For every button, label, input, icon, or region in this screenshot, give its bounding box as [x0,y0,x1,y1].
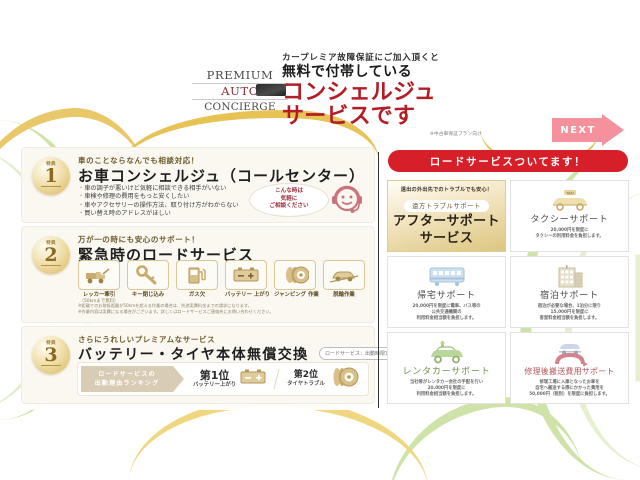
support-card-after-support[interactable]: 遠出の外出先でのトラブルでも安心！ 遠方トラブルサポート アフターサポート サー… [388,181,505,251]
next-button-label: NEXT [560,125,595,136]
advertisement-page: PREMIUM AUTO CONCIERGE カープレミア故障保証にご加入頂くと… [0,0,640,480]
logo-line-premium: PREMIUM [192,68,288,84]
road-service-label: 脱輪作業 [323,292,365,299]
card-title: レンタカーサポート [392,366,501,378]
fuel-pump-icon [176,260,218,290]
battery-icon [240,369,266,389]
ranking-entry-2: 第2位 タイヤトラブル [287,366,359,392]
train-icon [392,264,501,290]
road-service-label: キー閉じ込み [127,292,169,299]
card-description: 20,000円を限度に タクシーの利用料金を負担します。 [515,228,624,240]
benefit-card-3: 特典 3 さらにうれしいプレミアムなサービス バッテリー・タイヤ本体無償交換 ロ… [22,327,374,403]
road-service-label: バッテリー 上がり [225,292,267,299]
card-description: 20,000円を限度に電車、バス等の 公共交通機関の 利用料金相当額を負担します… [392,304,501,321]
bullet-item: 車やアクセサリーの操作方法、取り付け方がわからない [78,202,239,210]
road-service-notes: ※距離でのお取扱距離が50kmを超える作業の場合は、別途実費料金までの請求になり… [78,303,368,314]
header-subline: 無料で付帯している [282,64,532,81]
stuck-car-icon [323,260,365,290]
card-title: 宿泊サポート [515,290,624,302]
card-description: 当社等がレンタカー会社の手配を行い 20,000円を限度に 利用料金相当額を負担… [392,380,501,397]
road-service-panel: ロードサービスついてます！ 遠出の外出先でのトラブルでも安心！ 遠方トラブルサポ… [388,150,628,403]
support-card-hotel[interactable]: 宿泊サポート 宿泊が必要な場合、1泊分に限り 15,000円を限度に 客室料金相… [511,257,628,327]
support-card-transport[interactable]: 修理後搬送費用サポート 修理工場に入庫となったお車を 自宅へ搬送する際にかかった… [511,333,628,403]
header-title-line1: コンシェルジュ [282,81,532,105]
ranking-label-1: バッテリー上がり [193,382,236,389]
road-service-label: ジャンピング 作業 [274,292,316,299]
ranking-strip: ロードサービスの 出動理由ランキング 第1位 バッテリー上がり [78,363,368,395]
logo-line-concierge: CONCIERGE [192,100,288,115]
road-service-label: ガス欠 [176,292,218,299]
ranking-position-2: 第2位 タイヤトラブル [287,370,325,388]
road-service-item: レッカー牽引 （50kmまで無料） [78,260,120,305]
bullet-item: 車検や修理の費用をもっと安くしたい [78,193,239,201]
card-description: 宿泊が必要な場合、1泊分に限り 15,000円を限度に 客室料金相当額を負担しま… [515,304,624,321]
support-card-home[interactable]: 帰宅サポート 20,000円を限度に電車、バス等の 公共交通機関の 利用料金相当… [388,257,505,327]
medal-badge-1: 特典 1 [32,157,70,195]
note-line: ※作業内容は実費になる場合がございます。詳しくはロードサービスご連絡先にお問い合… [78,309,368,315]
road-service-banner-label: ロードサービスついてます！ [430,154,586,169]
key-icon [127,260,169,290]
medal-number-1: 1 [41,167,60,187]
benefit-title-1: お車コンシェルジュ（コールセンター） [78,165,365,186]
hotel-icon [515,264,624,290]
road-service-banner: ロードサービスついてます！ [388,150,628,172]
ranking-entry-1: 第1位 バッテリー上がり [193,369,266,389]
ranking-tag: ロードサービスの 出動理由ランキング [81,366,173,392]
header-title-line2: サービスです [282,105,532,129]
bullet-item: 買い替え時のアドレスがほしい [78,210,239,218]
ranking-rank-1: 第1位 [193,370,236,382]
medal-number-3: 3 [41,346,60,366]
road-service-icon-row: レッカー牽引 （50kmまで無料） キー閉じ込み [78,260,366,305]
road-service-item: 脱輪作業 [323,260,365,305]
tow-truck-icon [78,260,120,290]
header-headline: カープレミア故障保証にご加入頂くと 無料で付帯している コンシェルジュ サービス… [282,52,532,137]
consult-callout: こんな時は 気軽に ご相談ください [250,184,370,218]
speech-bubble: こんな時は 気軽に ご相談ください [250,184,328,216]
next-arrow-body: NEXT [552,118,604,142]
card-title-line1: アフターサポート [392,214,501,229]
tire-icon [274,260,316,290]
callout-line-3: ご相談ください [250,203,328,211]
card-description: 修理工場に入庫となったお車を 自宅へ搬送する際にかかった費用を 50,000円（… [515,380,624,397]
support-card-rental-car[interactable]: レンタカーサポート 当社等がレンタカー会社の手配を行い 20,000円を限度に … [388,333,505,403]
benefits-panel: 特典 1 車のことならなんでも相談対応！ お車コンシェルジュ（コールセンター） … [22,148,374,410]
benefit-card-1: 特典 1 車のことならなんでも相談対応！ お車コンシェルジュ（コールセンター） … [22,148,374,222]
road-service-item: キー閉じ込み [127,260,169,305]
next-arrow-head-icon [602,114,624,146]
svg-text:TAXI: TAXI [565,191,573,195]
ranking-position-1: 第1位 バッテリー上がり [193,370,236,389]
benefit-badge-3: ロードサービス：出動時限定 [319,347,396,360]
ranking-divider [274,369,280,389]
transport-car-icon [515,340,624,366]
support-card-grid: 遠出の外出先でのトラブルでも安心！ 遠方トラブルサポート アフターサポート サー… [388,181,628,403]
benefit-title-3: バッテリー・タイヤ本体無償交換 [78,344,309,364]
ranking-tag-line2: 出動理由ランキング [95,379,160,388]
road-service-item: ジャンピング 作業 [274,260,316,305]
benefit-bullets-1: 車の調子が悪いけど気軽に相談できる相手がいない 車検や修理の費用をもっと安くした… [78,185,239,219]
battery-icon [225,260,267,290]
header-kicker: カープレミア故障保証にご加入頂くと [282,52,532,64]
medal-number-2: 2 [41,246,60,266]
rental-car-icon [392,340,501,366]
card-title: 修理後搬送費用サポート [515,366,624,378]
ranking-tag-line1: ロードサービスの [98,370,156,379]
header-footnote: ※中古車保証プラン向け [282,131,482,137]
medal-badge-2: 特典 2 [32,236,70,274]
callout-line-1: こんな時は [250,188,328,196]
headset-operator-icon [330,184,364,220]
brand-logo: PREMIUM AUTO CONCIERGE [192,68,288,115]
benefit-card-2: 特典 2 万が一の時にも安心のサポート！ 緊急時のロードサービス [22,227,374,322]
card-pill-label: 遠方トラブルサポート [404,200,489,212]
medal-badge-3: 特典 3 [32,336,70,374]
panel-divider [378,152,379,408]
card-title: 帰宅サポート [392,290,501,302]
road-service-item: ガス欠 [176,260,218,305]
road-service-item: バッテリー 上がり [225,260,267,305]
ranking-rank-2: 第2位 [287,370,325,381]
support-card-taxi[interactable]: TAXI タクシーサポート 20,000円を限度に タクシーの利用料金を負担しま… [511,181,628,251]
card-title-line2: サービス [392,231,501,246]
ranking-label-2: タイヤトラブル [287,381,325,388]
tire-icon [329,366,359,392]
taxi-icon: TAXI [515,188,624,214]
road-service-label: レッカー牽引 [78,292,120,299]
card-kicker: 遠出の外出先でのトラブルでも安心！ [392,186,501,193]
card-title: タクシーサポート [515,214,624,226]
next-button[interactable]: NEXT [552,114,626,146]
page-header: PREMIUM AUTO CONCIERGE カープレミア故障保証にご加入頂くと… [0,52,640,126]
